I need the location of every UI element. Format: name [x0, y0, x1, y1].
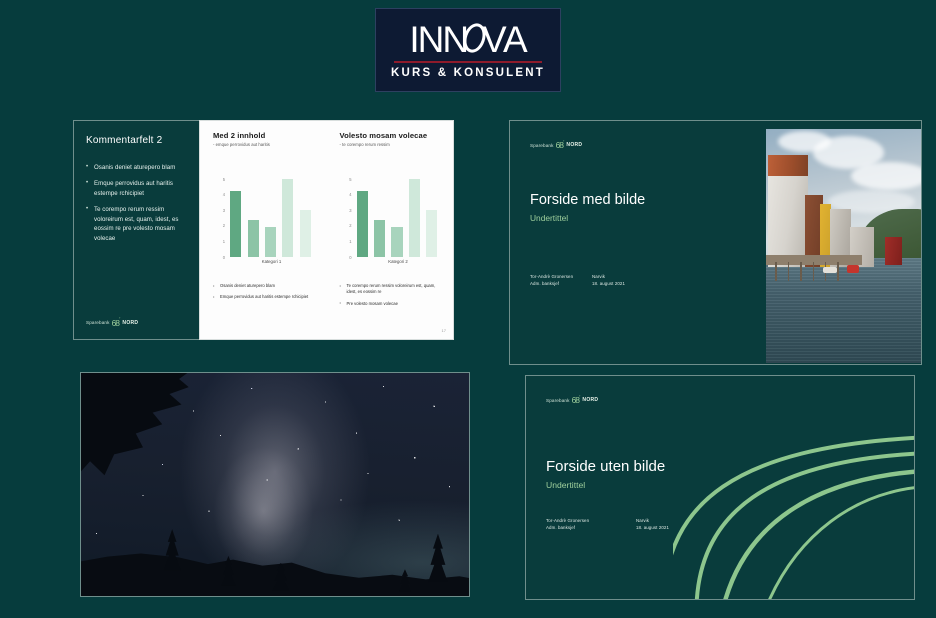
page-title: Forside uten bilde — [546, 458, 665, 475]
innova-word-part2: VA — [482, 21, 527, 58]
chart-plot-area: 543210 — [227, 179, 314, 257]
chart-bullet-list-2: Te corempo rerum ressim voloreirum est, … — [340, 283, 444, 312]
y-axis-tick-label: 1 — [213, 239, 225, 244]
y-axis-tick-label: 5 — [213, 177, 225, 182]
dock-post — [800, 262, 802, 281]
chart-bar — [426, 210, 437, 257]
chart-category-label: Kategori 2 — [354, 259, 443, 264]
list-item: Osanis deniet aturepero blam — [213, 283, 317, 289]
sparebank-68-mark-icon: 68° — [112, 319, 121, 328]
y-axis-tick-label: 1 — [340, 239, 352, 244]
sparebank-68-nord-logo: Sparebank 68° NORD — [530, 141, 582, 150]
y-axis-tick-label: 2 — [340, 223, 352, 228]
author-info: Tor-Andrè Gronersen Adm. banksjef — [530, 273, 592, 288]
mark-degree: ° — [579, 396, 580, 399]
milky-way-night-sky-photo — [81, 373, 469, 596]
cover-meta-block: Tor-Andrè Gronersen Adm. banksjef Narvik… — [546, 517, 698, 532]
comment-panel: Kommentarfelt 2 Osanis deniet aturepero … — [73, 120, 199, 340]
dock-post — [837, 262, 839, 281]
y-axis-tick-label: 0 — [213, 255, 225, 260]
mark-number: 68 — [112, 319, 119, 328]
slide-forside-uten-bilde[interactable]: Sparebank 68° NORD Forside uten bilde Un… — [525, 375, 915, 600]
chart-bar — [357, 191, 368, 257]
mark-degree: ° — [563, 141, 564, 144]
bar-chart-2: 543210 Kategori 2 — [340, 179, 443, 269]
cloud-icon — [851, 162, 921, 190]
y-axis-tick-label: 4 — [213, 192, 225, 197]
innova-word-part1: INN — [409, 21, 467, 58]
sparebank-word: Sparebank — [86, 320, 110, 325]
date: 18. august 2021 — [636, 524, 698, 531]
page-subtitle: Undertittel — [530, 213, 568, 223]
mark-degree: ° — [119, 318, 120, 321]
list-item: Emque perrovidus aut haritis estempe rch… — [213, 294, 317, 300]
mark-number: 68 — [556, 141, 563, 150]
cover-meta-block: Tor-Andrè Gronersen Adm. banksjef Narvik… — [530, 273, 654, 288]
chart-bar — [391, 227, 402, 257]
building-red-shed — [885, 237, 902, 265]
page-title: Forside med bilde — [530, 192, 645, 208]
sparebank-68-mark-icon: 68° — [572, 396, 581, 405]
slide-forside-med-bilde[interactable]: Sparebank 68° NORD Forside med bilde Und… — [509, 120, 922, 365]
y-axis-tick-label: 2 — [213, 223, 225, 228]
chart-bar — [265, 227, 276, 257]
chart-bar — [282, 179, 293, 257]
chart-category-label: Kategori 1 — [227, 259, 316, 264]
list-item: Pre volesto mosam volecae — [340, 301, 444, 307]
chart-subtitle: - te corempo rerum ressim — [340, 142, 454, 147]
chart-bar — [248, 220, 259, 257]
slide-night-sky-photo[interactable] — [80, 372, 470, 597]
dock-post — [788, 262, 790, 281]
sparebank-word: Sparebank — [530, 143, 554, 148]
chart-block-1: Med 2 innhold - emque perrovidus aut har… — [200, 131, 327, 340]
comment-panel-title: Kommentarfelt 2 — [86, 135, 162, 146]
chart-title: Med 2 innhold — [213, 131, 327, 140]
author-name: Tor-Andrè Gronersen — [546, 517, 636, 524]
chart-block-2: Volesto mosam volecae - te corempo rerum… — [327, 131, 454, 340]
place-date-info: Narvik 18. august 2021 — [636, 517, 698, 532]
list-item: Te corempo rerum ressim voloreirum est, … — [340, 283, 444, 296]
mark-nord: NORD — [122, 320, 138, 326]
green-arcs-graphic — [673, 376, 914, 599]
innova-logo-card: INN VA KURS & KONSULENT — [375, 8, 561, 92]
sparebank-word: Sparebank — [546, 398, 570, 403]
dock-post — [775, 262, 777, 281]
slide-kommentarfelt-2[interactable]: Kommentarfelt 2 Osanis deniet aturepero … — [73, 120, 454, 340]
slide-page-number: 17 — [442, 328, 446, 333]
date: 18. august 2021 — [592, 280, 654, 287]
y-axis-tick-label: 5 — [340, 177, 352, 182]
innova-wordmark: INN VA — [409, 21, 526, 58]
chart-plot-area: 543210 — [354, 179, 441, 257]
chart-bar — [230, 191, 241, 257]
place: Narvik — [592, 273, 654, 280]
dock-post — [813, 262, 815, 281]
place-date-info: Narvik 18. august 2021 — [592, 273, 654, 288]
y-axis-tick-label: 3 — [340, 208, 352, 213]
list-item: Te corempo rerum ressim voloreirum est, … — [86, 205, 192, 243]
y-axis-tick-label: 4 — [340, 192, 352, 197]
list-item: Osanis deniet aturepero blam — [86, 163, 192, 172]
author-info: Tor-Andrè Gronersen Adm. banksjef — [546, 517, 636, 532]
list-item: Emque perrovidus aut haritis estempe rch… — [86, 179, 192, 198]
page-subtitle: Undertittel — [546, 480, 585, 490]
innova-subtitle: KURS & KONSULENT — [391, 67, 545, 79]
chart-subtitle: - emque perrovidus aut haritis — [213, 142, 327, 147]
boat-red — [847, 265, 859, 273]
sparebank-68-nord-logo: Sparebank 68° NORD — [86, 319, 138, 328]
mark-number: 68 — [572, 396, 579, 405]
roof-rust — [768, 155, 808, 176]
sparebank-68-nord-logo: Sparebank 68° NORD — [546, 396, 598, 405]
slide-gallery-page: INN VA KURS & KONSULENT Kommentarfelt 2 … — [0, 0, 936, 618]
y-axis-tick-label: 3 — [213, 208, 225, 213]
slide-content-area: Med 2 innhold - emque perrovidus aut har… — [199, 120, 454, 340]
chart-title: Volesto mosam volecae — [340, 131, 454, 140]
mark-nord: NORD — [582, 397, 598, 403]
author-role: Adm. banksjef — [530, 280, 592, 287]
place: Narvik — [636, 517, 698, 524]
y-axis-tick-label: 0 — [340, 255, 352, 260]
chart-bar — [409, 179, 420, 257]
boat-white — [823, 267, 837, 273]
harbour-wharf-photo — [766, 129, 921, 363]
chart-bar — [300, 210, 311, 257]
author-role: Adm. banksjef — [546, 524, 636, 531]
harbour-photo-art — [766, 129, 921, 363]
chart-bar — [374, 220, 385, 257]
sparebank-68-mark-icon: 68° — [556, 141, 565, 150]
chart-bullet-list-1: Osanis deniet aturepero blam Emque perro… — [213, 283, 317, 306]
bar-chart-1: 543210 Kategori 1 — [213, 179, 316, 269]
mark-nord: NORD — [566, 142, 582, 148]
author-name: Tor-Andrè Gronersen — [530, 273, 592, 280]
innova-divider-rule — [394, 61, 542, 63]
comment-panel-bullet-list: Osanis deniet aturepero blam Emque perro… — [86, 163, 192, 250]
